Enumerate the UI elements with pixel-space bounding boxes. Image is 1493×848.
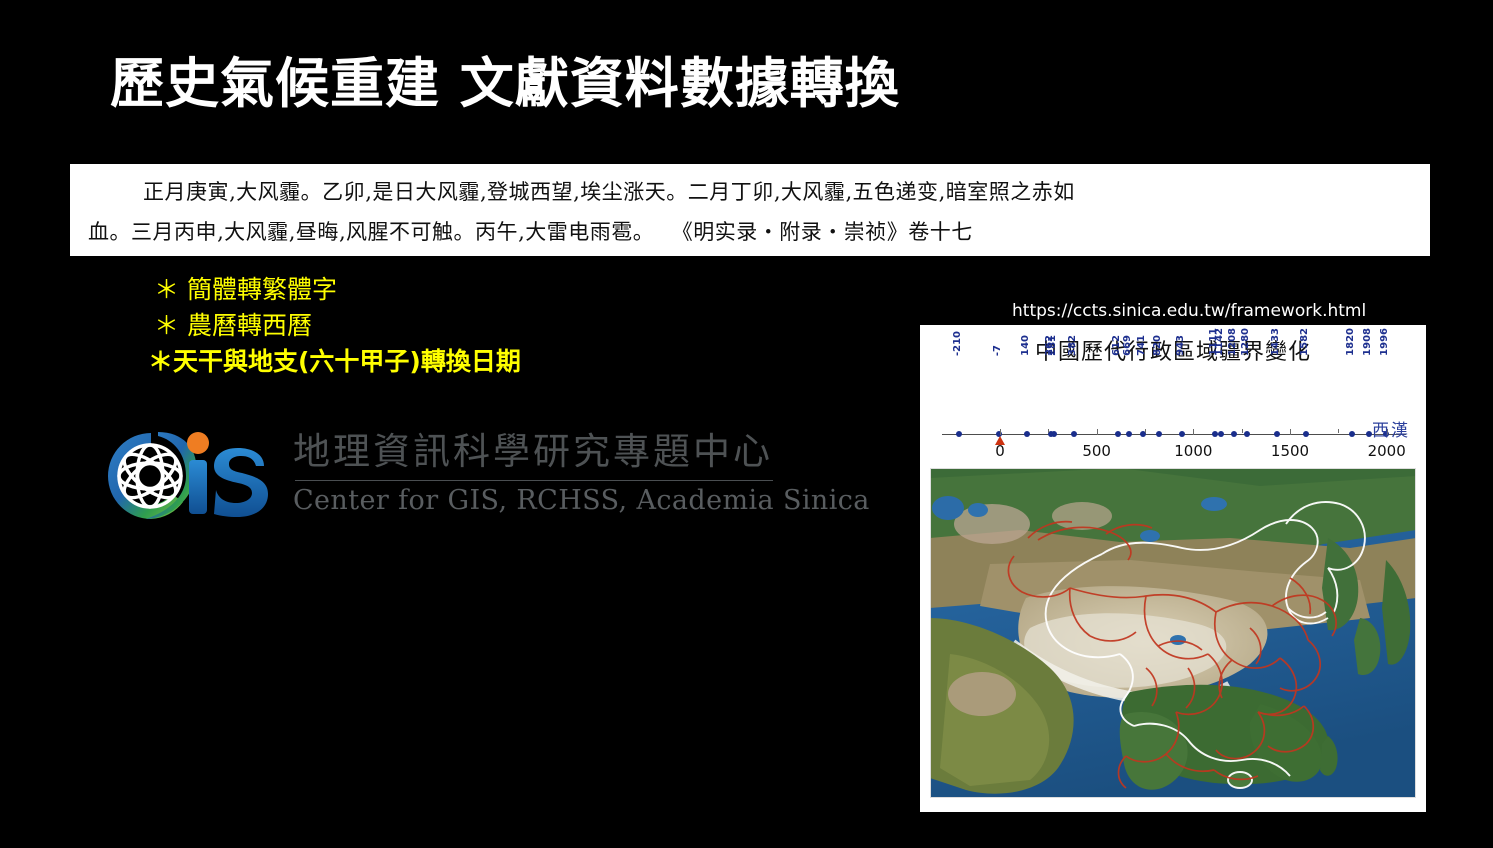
map-svg bbox=[930, 468, 1416, 798]
timeline-event-label: 820 bbox=[1153, 335, 1163, 356]
timeline-event-marker[interactable] bbox=[956, 431, 962, 437]
timeline-event-label: 1908 bbox=[1363, 328, 1373, 356]
logo-letter-i bbox=[189, 460, 207, 514]
timeline-axis bbox=[942, 434, 1406, 435]
timeline-event-label: 741 bbox=[1137, 335, 1147, 356]
quotation-box: 正月庚寅‚大风霾。乙卯‚是日大风霾‚登城西望‚埃尘涨天。二月丁卯‚大风霾‚五色递… bbox=[70, 164, 1430, 256]
timeline-scale-tick bbox=[1290, 429, 1291, 435]
timeline-event-marker[interactable] bbox=[1156, 431, 1162, 437]
timeline-event-marker[interactable] bbox=[1349, 431, 1355, 437]
logo-text-block: 地理資訊科學研究專題中心 Center for GIS, RCHSS, Acad… bbox=[293, 428, 778, 518]
timeline-event-label: -7 bbox=[993, 345, 1003, 356]
gis-center-logo: 地理資訊科學研究專題中心 Center for GIS, RCHSS, Acad… bbox=[88, 424, 778, 532]
timeline-minor-tick bbox=[1242, 429, 1243, 433]
timeline-event-marker[interactable] bbox=[1071, 431, 1077, 437]
logo-chinese-name: 地理資訊科學研究專題中心 bbox=[293, 428, 778, 476]
timeline-event-label: 281 bbox=[1048, 335, 1058, 356]
timeline-scale-tick bbox=[1097, 429, 1098, 435]
timeline-scale-label: 1000 bbox=[1174, 442, 1212, 460]
timeline-scale-label: 1500 bbox=[1271, 442, 1309, 460]
timeline-scale-label: 500 bbox=[1082, 442, 1111, 460]
timeline-event-marker[interactable] bbox=[1231, 431, 1237, 437]
timeline-event-label: 612 bbox=[1112, 335, 1122, 356]
quotation-source: 《明实录・附录・崇祯》卷十七 bbox=[654, 220, 973, 244]
map-panel: 中國歷代行政區域疆界變化 -210-7140262281382612669741… bbox=[920, 325, 1426, 812]
timeline-minor-tick bbox=[1048, 429, 1049, 433]
timeline-event-marker[interactable] bbox=[1212, 431, 1218, 437]
timeline-event-label: 140 bbox=[1021, 335, 1031, 356]
timeline-event-label: -210 bbox=[953, 331, 963, 356]
timeline-event-marker[interactable] bbox=[1274, 431, 1280, 437]
gis-logo-mark bbox=[88, 424, 288, 528]
logo-dot-icon bbox=[187, 432, 209, 454]
timeline-event-marker[interactable] bbox=[1366, 431, 1372, 437]
timeline-event-marker[interactable] bbox=[1051, 431, 1057, 437]
logo-divider bbox=[295, 480, 773, 481]
timeline-chart[interactable]: -210-71402622813826126697418209431111114… bbox=[942, 390, 1406, 462]
timeline-scale-tick bbox=[1000, 429, 1001, 435]
quotation-line-2: 血。三月丙申‚大风霾‚昼晦‚风腥不可触。丙午‚大雷电雨雹。《明实录・附录・崇祯》… bbox=[88, 212, 1412, 252]
bullet-item-simplified-to-traditional: ＊ 簡體轉繁體字 bbox=[148, 272, 521, 308]
quotation-line-1: 正月庚寅‚大风霾。乙卯‚是日大风霾‚登城西望‚埃尘涨天。二月丁卯‚大风霾‚五色递… bbox=[88, 172, 1412, 212]
timeline-event-label: 1582 bbox=[1300, 328, 1310, 356]
timeline-event-label: 669 bbox=[1123, 335, 1133, 356]
quotation-line-2-text: 血。三月丙申‚大风霾‚昼晦‚风腥不可触。丙午‚大雷电雨雹。 bbox=[88, 220, 654, 244]
timeline-event-label: 1208 bbox=[1228, 328, 1238, 356]
timeline-event-marker[interactable] bbox=[1179, 431, 1185, 437]
page-title: 歷史氣候重建 文獻資料數據轉換 bbox=[110, 56, 900, 113]
bullet-item-lunar-to-gregorian: ＊ 農曆轉西曆 bbox=[148, 308, 521, 344]
timeline-era-label: 西漢 bbox=[1372, 416, 1410, 441]
conversion-bullet-list: ＊ 簡體轉繁體字 ＊ 農曆轉西曆 ＊天干與地支(六十甲子)轉換日期 bbox=[148, 272, 521, 380]
timeline-event-marker[interactable] bbox=[1115, 431, 1121, 437]
timeline-minor-tick bbox=[1338, 429, 1339, 433]
timeline-event-label: 1433 bbox=[1271, 328, 1281, 356]
gis-logo-svg bbox=[88, 424, 288, 528]
timeline-minor-tick bbox=[1145, 429, 1146, 433]
china-satellite-map[interactable] bbox=[930, 468, 1416, 798]
timeline-event-label: 1280 bbox=[1241, 328, 1251, 356]
timeline-event-label: 1996 bbox=[1380, 328, 1390, 356]
timeline-event-label: 943 bbox=[1176, 335, 1186, 356]
logo-letter-s bbox=[214, 448, 268, 517]
globe-wireframe-icon bbox=[118, 445, 183, 507]
timeline-event-label: 1142 bbox=[1215, 328, 1225, 356]
source-url-label[interactable]: https://ccts.sinica.edu.tw/framework.htm… bbox=[1012, 301, 1366, 321]
logo-english-name: Center for GIS, RCHSS, Academia Sinica bbox=[293, 484, 778, 518]
timeline-event-marker[interactable] bbox=[1024, 431, 1030, 437]
timeline-event-marker[interactable] bbox=[1218, 431, 1224, 437]
timeline-scale-label: 2000 bbox=[1368, 442, 1406, 460]
timeline-event-marker[interactable] bbox=[1303, 431, 1309, 437]
timeline-scale-tick bbox=[1193, 429, 1194, 435]
timeline-event-marker[interactable] bbox=[1244, 431, 1250, 437]
timeline-event-label: 382 bbox=[1068, 335, 1078, 356]
timeline-event-marker[interactable] bbox=[1126, 431, 1132, 437]
timeline-event-label: 1820 bbox=[1346, 328, 1356, 356]
timeline-current-marker bbox=[995, 436, 1005, 445]
bullet-item-sexagenary-date: ＊天干與地支(六十甲子)轉換日期 bbox=[148, 344, 521, 380]
